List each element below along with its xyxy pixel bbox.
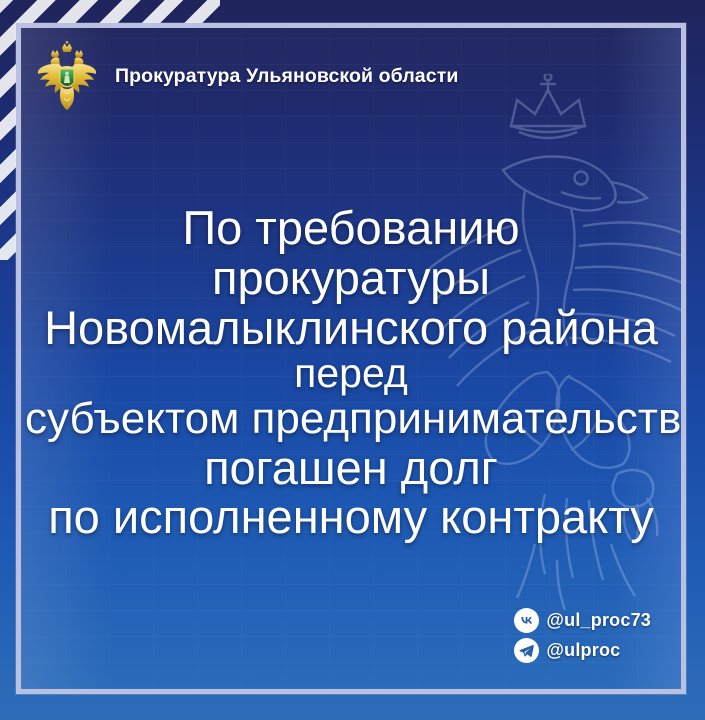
headline-line-4: перед [25,352,677,395]
poster-canvas: Прокуратура Ульяновской области По требо… [0,0,705,720]
telegram-handle: @ulproc [546,640,620,661]
headline-line-3: Новомалыклинского района [25,303,677,353]
headline-line-2: прокуратуры [25,253,677,303]
headline-block: По требованию прокуратуры Новомалыклинск… [21,203,681,542]
telegram-icon [514,638,539,663]
headline-line-1: По требованию [25,203,677,253]
inner-frame-panel: Прокуратура Ульяновской области По требо… [16,23,686,694]
organization-title: Прокуратура Ульяновской области [115,65,458,88]
social-link-vk[interactable]: @ul_proc73 [514,608,651,633]
vk-icon [514,608,539,633]
headline-line-7: по исполненному контракту [25,492,677,542]
social-link-telegram[interactable]: @ulproc [514,638,620,663]
header-bar: Прокуратура Ульяновской области [21,28,681,124]
social-links: @ul_proc73 @ulproc [514,608,651,663]
headline-line-5: субъектом предпринимательства [25,396,677,443]
russian-prosecution-eagle-emblem-icon [35,41,99,113]
headline-line-6: погашен долг [25,443,677,493]
vk-handle: @ul_proc73 [546,610,651,631]
